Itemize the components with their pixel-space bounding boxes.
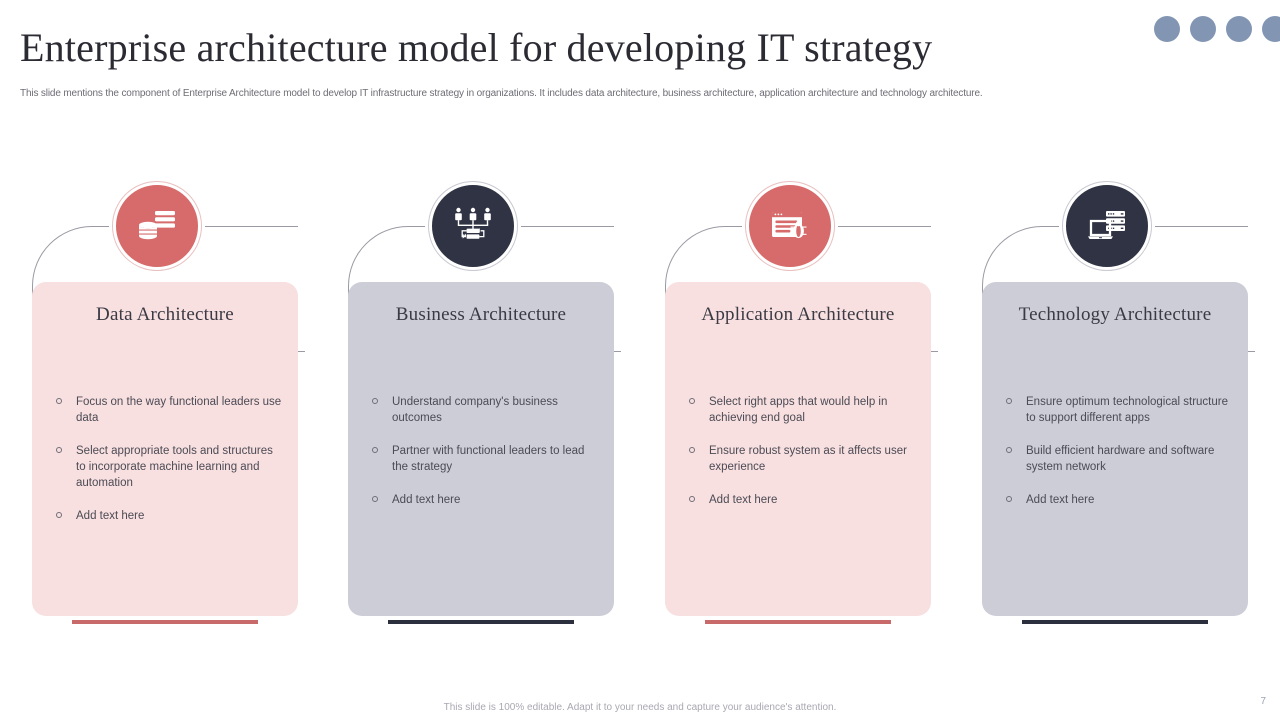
- decorative-dot: [1262, 16, 1280, 42]
- card-title: Business Architecture: [348, 304, 614, 326]
- list-item: Build efficient hardware and software sy…: [1004, 443, 1234, 475]
- page-subtitle: This slide mentions the component of Ent…: [20, 88, 983, 99]
- card-title: Data Architecture: [32, 304, 298, 326]
- list-item: Ensure robust system as it affects user …: [687, 443, 917, 475]
- list-item: Select right apps that would help in ach…: [687, 394, 917, 426]
- card-business-architecture[interactable]: Business Architecture Understand company…: [348, 182, 614, 632]
- card-accent-bar: [72, 620, 258, 624]
- bullet-marker-icon: [689, 447, 695, 453]
- list-item-text: Focus on the way functional leaders use …: [76, 396, 281, 424]
- footer-note: This slide is 100% editable. Adapt it to…: [0, 702, 1280, 713]
- page-number: 7: [1260, 696, 1266, 707]
- list-item-text: Ensure optimum technological structure t…: [1026, 396, 1228, 424]
- list-item-text: Add text here: [76, 510, 144, 522]
- list-item: Add text here: [687, 492, 917, 508]
- slide-root: Enterprise architecture model for develo…: [0, 0, 1280, 720]
- bullet-marker-icon: [1006, 398, 1012, 404]
- bullet-marker-icon: [56, 398, 62, 404]
- decorative-dot: [1154, 16, 1180, 42]
- list-item-text: Select right apps that would help in ach…: [709, 396, 887, 424]
- architecture-cards: Data Architecture Focus on the way funct…: [32, 182, 1248, 632]
- decorative-dot: [1226, 16, 1252, 42]
- bullet-marker-icon: [1006, 447, 1012, 453]
- card-bullet-list: Select right apps that would help in ach…: [687, 394, 917, 525]
- list-item-text: Select appropriate tools and structures …: [76, 445, 273, 489]
- list-item: Select appropriate tools and structures …: [54, 443, 284, 491]
- list-item: Add text here: [1004, 492, 1234, 508]
- bullet-marker-icon: [689, 496, 695, 502]
- card-bullet-list: Understand company's business outcomes P…: [370, 394, 600, 525]
- database-stack-icon: [113, 182, 201, 270]
- list-item-text: Add text here: [1026, 494, 1094, 506]
- card-bullet-list: Ensure optimum technological structure t…: [1004, 394, 1234, 525]
- card-accent-bar: [1022, 620, 1208, 624]
- card-panel: Business Architecture Understand company…: [348, 282, 614, 616]
- decorative-dots: [1154, 16, 1280, 42]
- card-title: Technology Architecture: [982, 304, 1248, 326]
- card-accent-bar: [705, 620, 891, 624]
- list-item: Understand company's business outcomes: [370, 394, 600, 426]
- bullet-marker-icon: [56, 512, 62, 518]
- list-item-text: Ensure robust system as it affects user …: [709, 445, 907, 473]
- bullet-marker-icon: [689, 398, 695, 404]
- card-panel: Data Architecture Focus on the way funct…: [32, 282, 298, 616]
- decorative-dot: [1190, 16, 1216, 42]
- list-item-text: Build efficient hardware and software sy…: [1026, 445, 1214, 473]
- page-title: Enterprise architecture model for develo…: [20, 24, 932, 71]
- list-item: Partner with functional leaders to lead …: [370, 443, 600, 475]
- browser-window-bug-icon: [746, 182, 834, 270]
- list-item-text: Add text here: [709, 494, 777, 506]
- bullet-marker-icon: [1006, 496, 1012, 502]
- list-item-text: Add text here: [392, 494, 460, 506]
- bullet-marker-icon: [372, 398, 378, 404]
- card-technology-architecture[interactable]: Technology Architecture Ensure optimum t…: [982, 182, 1248, 632]
- bullet-marker-icon: [372, 447, 378, 453]
- list-item-text: Partner with functional leaders to lead …: [392, 445, 584, 473]
- list-item: Focus on the way functional leaders use …: [54, 394, 284, 426]
- card-application-architecture[interactable]: Application Architecture Select right ap…: [665, 182, 931, 632]
- card-data-architecture[interactable]: Data Architecture Focus on the way funct…: [32, 182, 298, 632]
- card-title: Application Architecture: [665, 304, 931, 326]
- bullet-marker-icon: [56, 447, 62, 453]
- card-panel: Application Architecture Select right ap…: [665, 282, 931, 616]
- list-item: Add text here: [54, 508, 284, 524]
- card-panel: Technology Architecture Ensure optimum t…: [982, 282, 1248, 616]
- list-item-text: Understand company's business outcomes: [392, 396, 558, 424]
- org-chart-people-icon: [429, 182, 517, 270]
- laptop-server-rack-icon: [1063, 182, 1151, 270]
- list-item: Ensure optimum technological structure t…: [1004, 394, 1234, 426]
- list-item: Add text here: [370, 492, 600, 508]
- bullet-marker-icon: [372, 496, 378, 502]
- card-bullet-list: Focus on the way functional leaders use …: [54, 394, 284, 541]
- card-accent-bar: [388, 620, 574, 624]
